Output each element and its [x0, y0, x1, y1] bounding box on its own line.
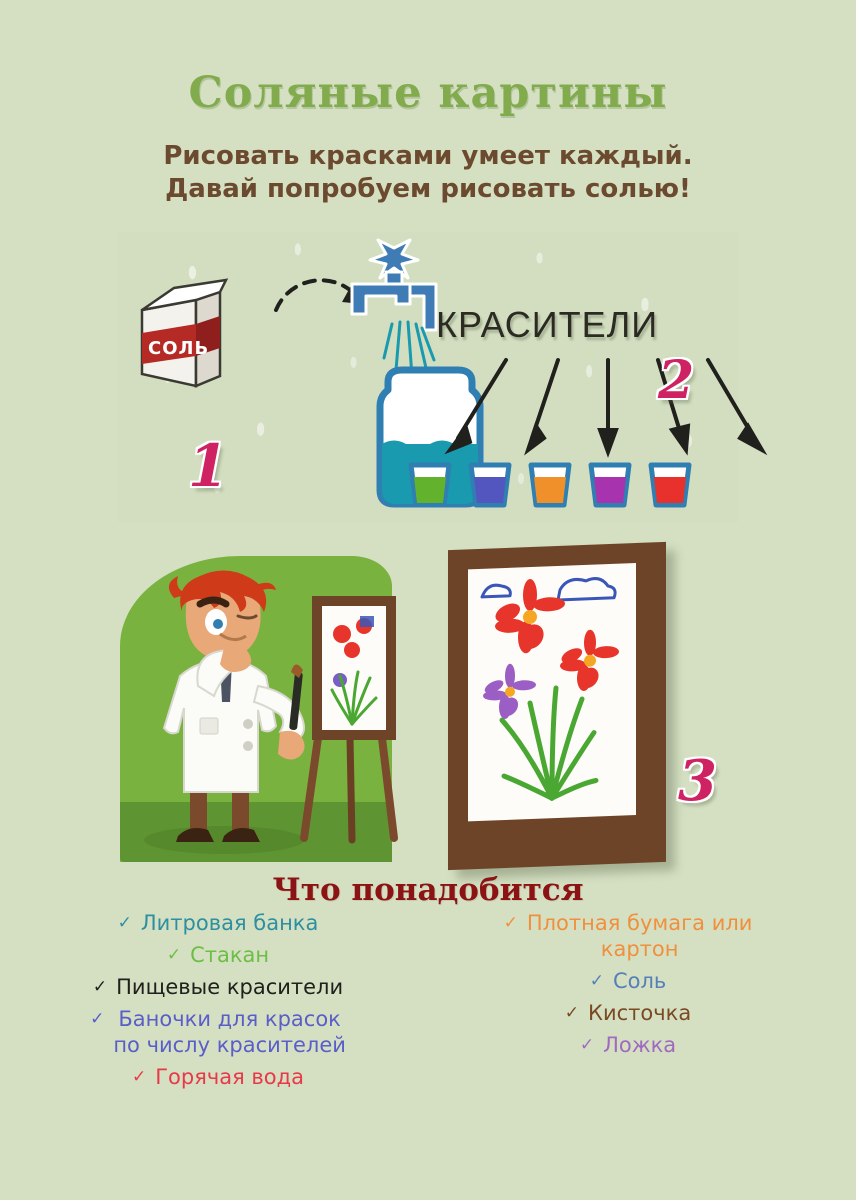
dyes-label: КРАСИТЕЛИ [436, 304, 658, 346]
poster-page: Соляные картины Рисовать красками умеет … [0, 0, 856, 1200]
check-icon: ✓ [590, 968, 604, 994]
framed-painting [448, 542, 666, 870]
needed-columns: ✓ Литровая банка ✓ Стакан ✓ Пищевые крас… [0, 910, 856, 1160]
step-number-3: 3 [678, 748, 717, 814]
list-item: ✓ Баночки для красок по числу красителей [28, 1006, 408, 1058]
needed-list-left: ✓ Литровая банка ✓ Стакан ✓ Пищевые крас… [28, 910, 408, 1096]
needed-heading: Что понадобится [0, 872, 856, 908]
check-icon: ✓ [580, 1032, 594, 1058]
step-number-2: 2 [658, 350, 694, 411]
check-icon: ✓ [93, 974, 107, 1000]
subtitle-line-1: Рисовать красками умеет каждый. [0, 140, 856, 173]
check-icon: ✓ [504, 910, 518, 936]
painting-canvas [468, 563, 636, 821]
list-item: ✓ Пищевые красители [28, 974, 408, 1000]
cup-green [406, 460, 454, 510]
check-icon: ✓ [118, 910, 132, 936]
list-item: ✓ Ложка [438, 1032, 818, 1058]
illustration-step-3: 3 [118, 528, 738, 868]
salt-box-label: СОЛЬ [148, 338, 209, 359]
illustration-step-1-2: СОЛЬ [118, 232, 738, 522]
list-item: ✓ Стакан [28, 942, 408, 968]
check-icon: ✓ [132, 1064, 146, 1090]
check-icon: ✓ [565, 1000, 579, 1026]
list-item: ✓ Литровая банка [28, 910, 408, 936]
list-item: ✓ Плотная бумага или картон [438, 910, 818, 962]
check-icon: ✓ [90, 1006, 104, 1032]
list-item: ✓ Горячая вода [28, 1064, 408, 1090]
list-item: ✓ Кисточка [438, 1000, 818, 1026]
salt-box-icon: СОЛЬ [130, 274, 260, 414]
dye-arrows-icon [436, 354, 796, 464]
easel-with-canvas [294, 588, 422, 846]
list-item-label: Соль [613, 968, 666, 994]
list-item-label: Плотная бумага или картон [527, 910, 753, 962]
list-item-label: Горячая вода [155, 1064, 304, 1090]
list-item-label: Баночки для красок по числу красителей [113, 1006, 346, 1058]
list-item-label: Стакан [190, 942, 269, 968]
page-subtitle: Рисовать красками умеет каждый. Давай по… [0, 140, 856, 206]
painting-artwork [468, 563, 636, 821]
list-item: ✓ Соль [438, 968, 818, 994]
list-item-label: Кисточка [588, 1000, 691, 1026]
list-item-label: Литровая банка [141, 910, 319, 936]
cup-red [646, 460, 694, 510]
subtitle-line-2: Давай попробуем рисовать солью! [0, 173, 856, 206]
cup-orange [526, 460, 574, 510]
check-icon: ✓ [167, 942, 181, 968]
needed-list-right: ✓ Плотная бумага или картон ✓ Соль ✓ Кис… [438, 910, 818, 1064]
cup-blue [466, 460, 514, 510]
list-item-label: Пищевые красители [116, 974, 343, 1000]
step-number-1: 1 [188, 432, 228, 500]
cup-purple [586, 460, 634, 510]
list-item-label: Ложка [603, 1032, 676, 1058]
page-title: Соляные картины [0, 68, 856, 118]
